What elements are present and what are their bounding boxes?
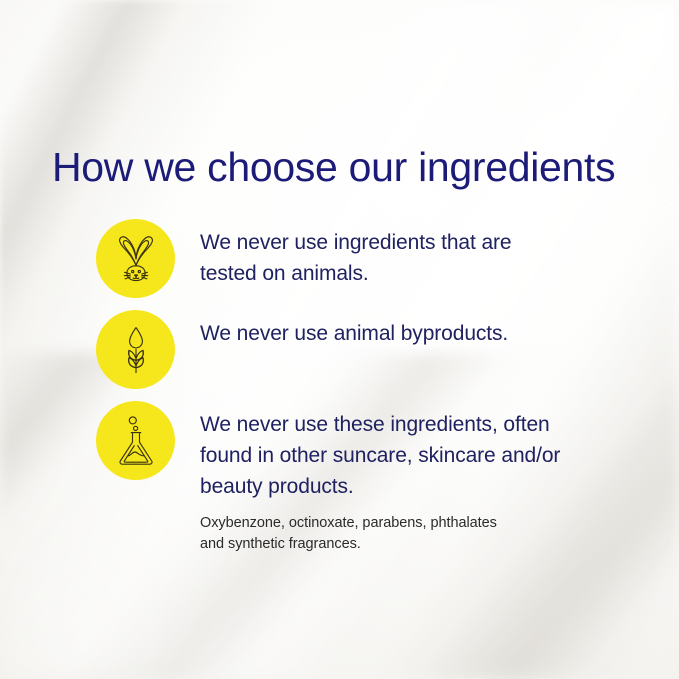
fineprint-line-1: Oxybenzone, octinoxate, parabens, phthal… [200,513,616,534]
claim-text: We never use animal byproducts. [175,310,616,350]
claim-item-banned-ingredients: We never use these ingredients, often fo… [96,401,616,555]
ingredients-infographic: How we choose our ingredients [0,0,679,679]
claim-item-cruelty-free: We never use ingredients that are tested… [96,219,616,298]
claim-line-1: We never use animal byproducts. [200,319,616,350]
page-title: How we choose our ingredients [52,145,615,191]
plant-sprout-icon [115,325,157,375]
claim-line-1: We never use these ingredients, often [200,410,616,441]
claim-icon-badge [96,219,175,298]
claim-text: We never use these ingredients, often fo… [175,401,616,555]
claim-line-1: We never use ingredients that are [200,228,616,259]
claim-line-3: beauty products. [200,472,616,503]
claim-icon-badge [96,310,175,389]
bunny-heart-ears-icon [113,234,159,284]
claim-text: We never use ingredients that are tested… [175,219,616,290]
erlenmeyer-flask-icon [113,415,159,467]
claim-icon-badge [96,401,175,480]
claim-item-no-animal-byproducts: We never use animal byproducts. [96,310,616,389]
claim-line-2: found in other suncare, skincare and/or [200,441,616,472]
fineprint-line-2: and synthetic fragrances. [200,534,616,555]
content-area: How we choose our ingredients [0,0,679,679]
claims-list: We never use ingredients that are tested… [96,219,616,555]
claim-line-2: tested on animals. [200,259,616,290]
